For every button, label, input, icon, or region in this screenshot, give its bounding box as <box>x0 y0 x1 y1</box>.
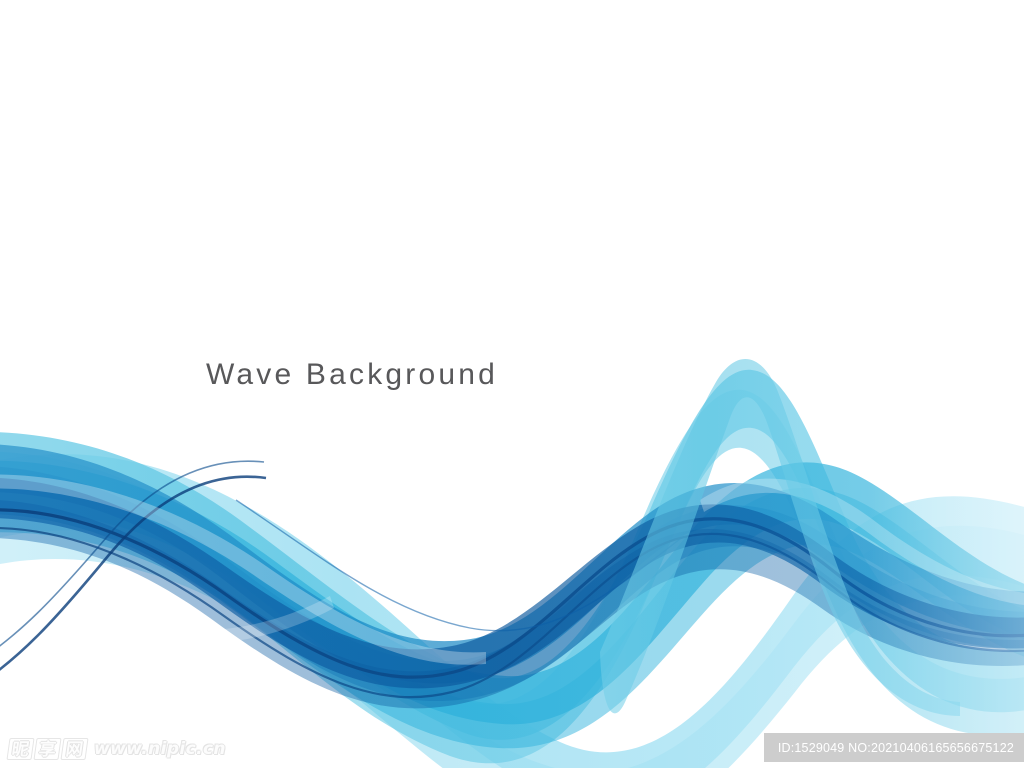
watermark-logo-char-2: 享 <box>33 738 61 760</box>
wave-background-canvas: Wave Background 昵 享 网 www.nipic.cn ID:15… <box>0 0 1024 768</box>
watermark-logo-char-1: 昵 <box>6 738 34 760</box>
watermark: 昵 享 网 www.nipic.cn <box>8 736 226 762</box>
id-bar: ID:1529049 NO:20210406165656675122 <box>764 733 1024 762</box>
id-bar-text: ID:1529049 NO:20210406165656675122 <box>778 741 1014 755</box>
wave-artwork <box>0 0 1024 768</box>
watermark-url: www.nipic.cn <box>94 739 226 759</box>
watermark-logo: 昵 享 网 <box>8 738 87 760</box>
page-title: Wave Background <box>206 358 498 392</box>
watermark-logo-char-3: 网 <box>60 738 88 760</box>
